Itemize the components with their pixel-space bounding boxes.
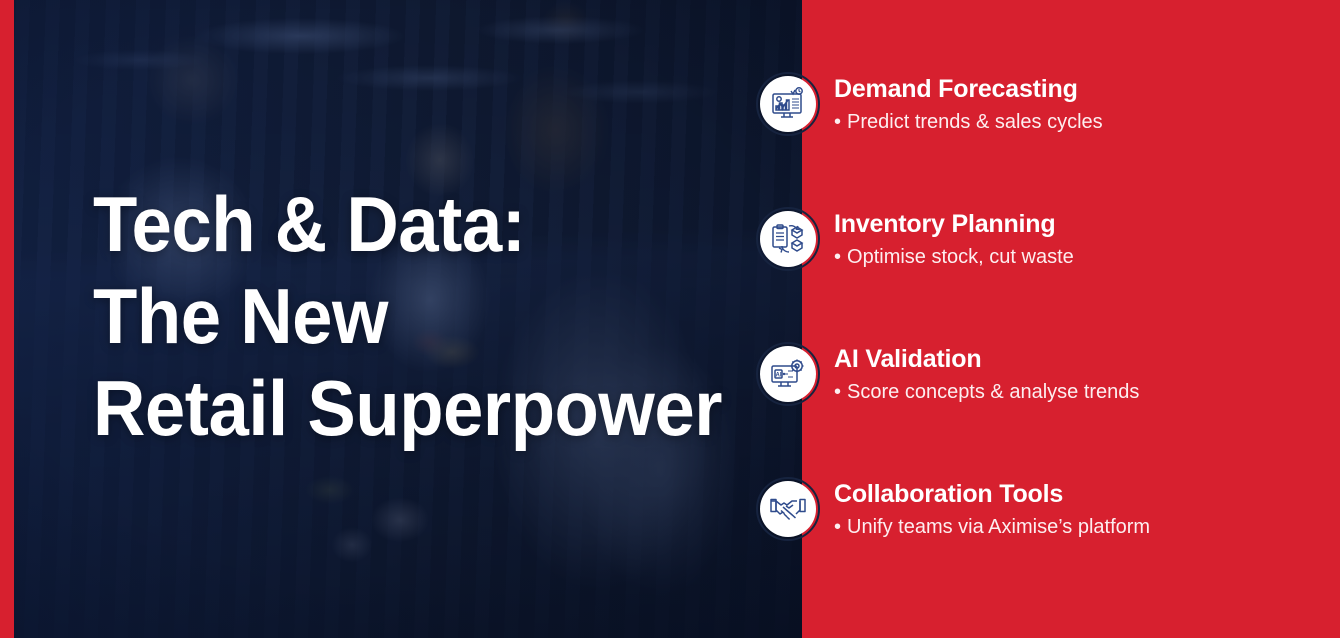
- badge-disc: [760, 211, 816, 267]
- headline-line-3: Retail Superpower: [93, 362, 722, 454]
- features-panel: Demand Forecasting •Predict trends & sal…: [802, 0, 1340, 638]
- feature-title: Demand Forecasting: [834, 74, 1103, 104]
- feature-text-block: Collaboration Tools •Unify teams via Axi…: [834, 477, 1150, 540]
- feature-text-block: Demand Forecasting •Predict trends & sal…: [834, 72, 1103, 135]
- feature-item-demand-forecasting[interactable]: Demand Forecasting •Predict trends & sal…: [756, 72, 1316, 136]
- badge-disc: [760, 481, 816, 537]
- feature-text-block: Inventory Planning •Optimise stock, cut …: [834, 207, 1074, 270]
- feature-subtitle-text: Unify teams via Aximise’s platform: [847, 516, 1150, 538]
- feature-text-block: AI Validation •Score concepts & analyse …: [834, 342, 1139, 405]
- feature-subtitle-text: Predict trends & sales cycles: [847, 111, 1103, 133]
- bullet-dot: •: [834, 246, 841, 268]
- feature-item-inventory-planning[interactable]: Inventory Planning •Optimise stock, cut …: [756, 207, 1316, 271]
- left-red-edge-strip: [0, 0, 14, 638]
- bullet-dot: •: [834, 381, 841, 403]
- feature-subtitle: •Predict trends & sales cycles: [834, 109, 1103, 135]
- feature-item-collaboration-tools[interactable]: Collaboration Tools •Unify teams via Axi…: [756, 477, 1316, 541]
- badge-disc: [760, 76, 816, 132]
- feature-subtitle: •Score concepts & analyse trends: [834, 379, 1139, 405]
- slide-root: Tech & Data: The New Retail Superpower: [0, 0, 1340, 638]
- page-title: Tech & Data: The New Retail Superpower: [93, 178, 722, 454]
- clipboard-boxes-cycle-icon: [756, 207, 820, 271]
- feature-title: Inventory Planning: [834, 209, 1074, 239]
- badge-disc: AI: [760, 346, 816, 402]
- feature-subtitle: •Unify teams via Aximise’s platform: [834, 514, 1150, 540]
- feature-title: AI Validation: [834, 344, 1139, 374]
- ai-monitor-gear-icon: AI: [756, 342, 820, 406]
- feature-subtitle-text: Optimise stock, cut waste: [847, 246, 1074, 268]
- bullet-dot: •: [834, 516, 841, 538]
- headline-line-1: Tech & Data:: [93, 178, 722, 270]
- headline-line-2: The New: [93, 270, 722, 362]
- svg-text:AI: AI: [776, 373, 782, 379]
- feature-subtitle: •Optimise stock, cut waste: [834, 244, 1074, 270]
- dashboard-chart-monitor-icon: [756, 72, 820, 136]
- feature-item-ai-validation[interactable]: AI AI Validation •Score concepts & analy…: [756, 342, 1316, 406]
- photo-panel: Tech & Data: The New Retail Superpower: [0, 0, 802, 638]
- bullet-dot: •: [834, 111, 841, 133]
- feature-subtitle-text: Score concepts & analyse trends: [847, 381, 1139, 403]
- handshake-icon: [756, 477, 820, 541]
- feature-title: Collaboration Tools: [834, 479, 1150, 509]
